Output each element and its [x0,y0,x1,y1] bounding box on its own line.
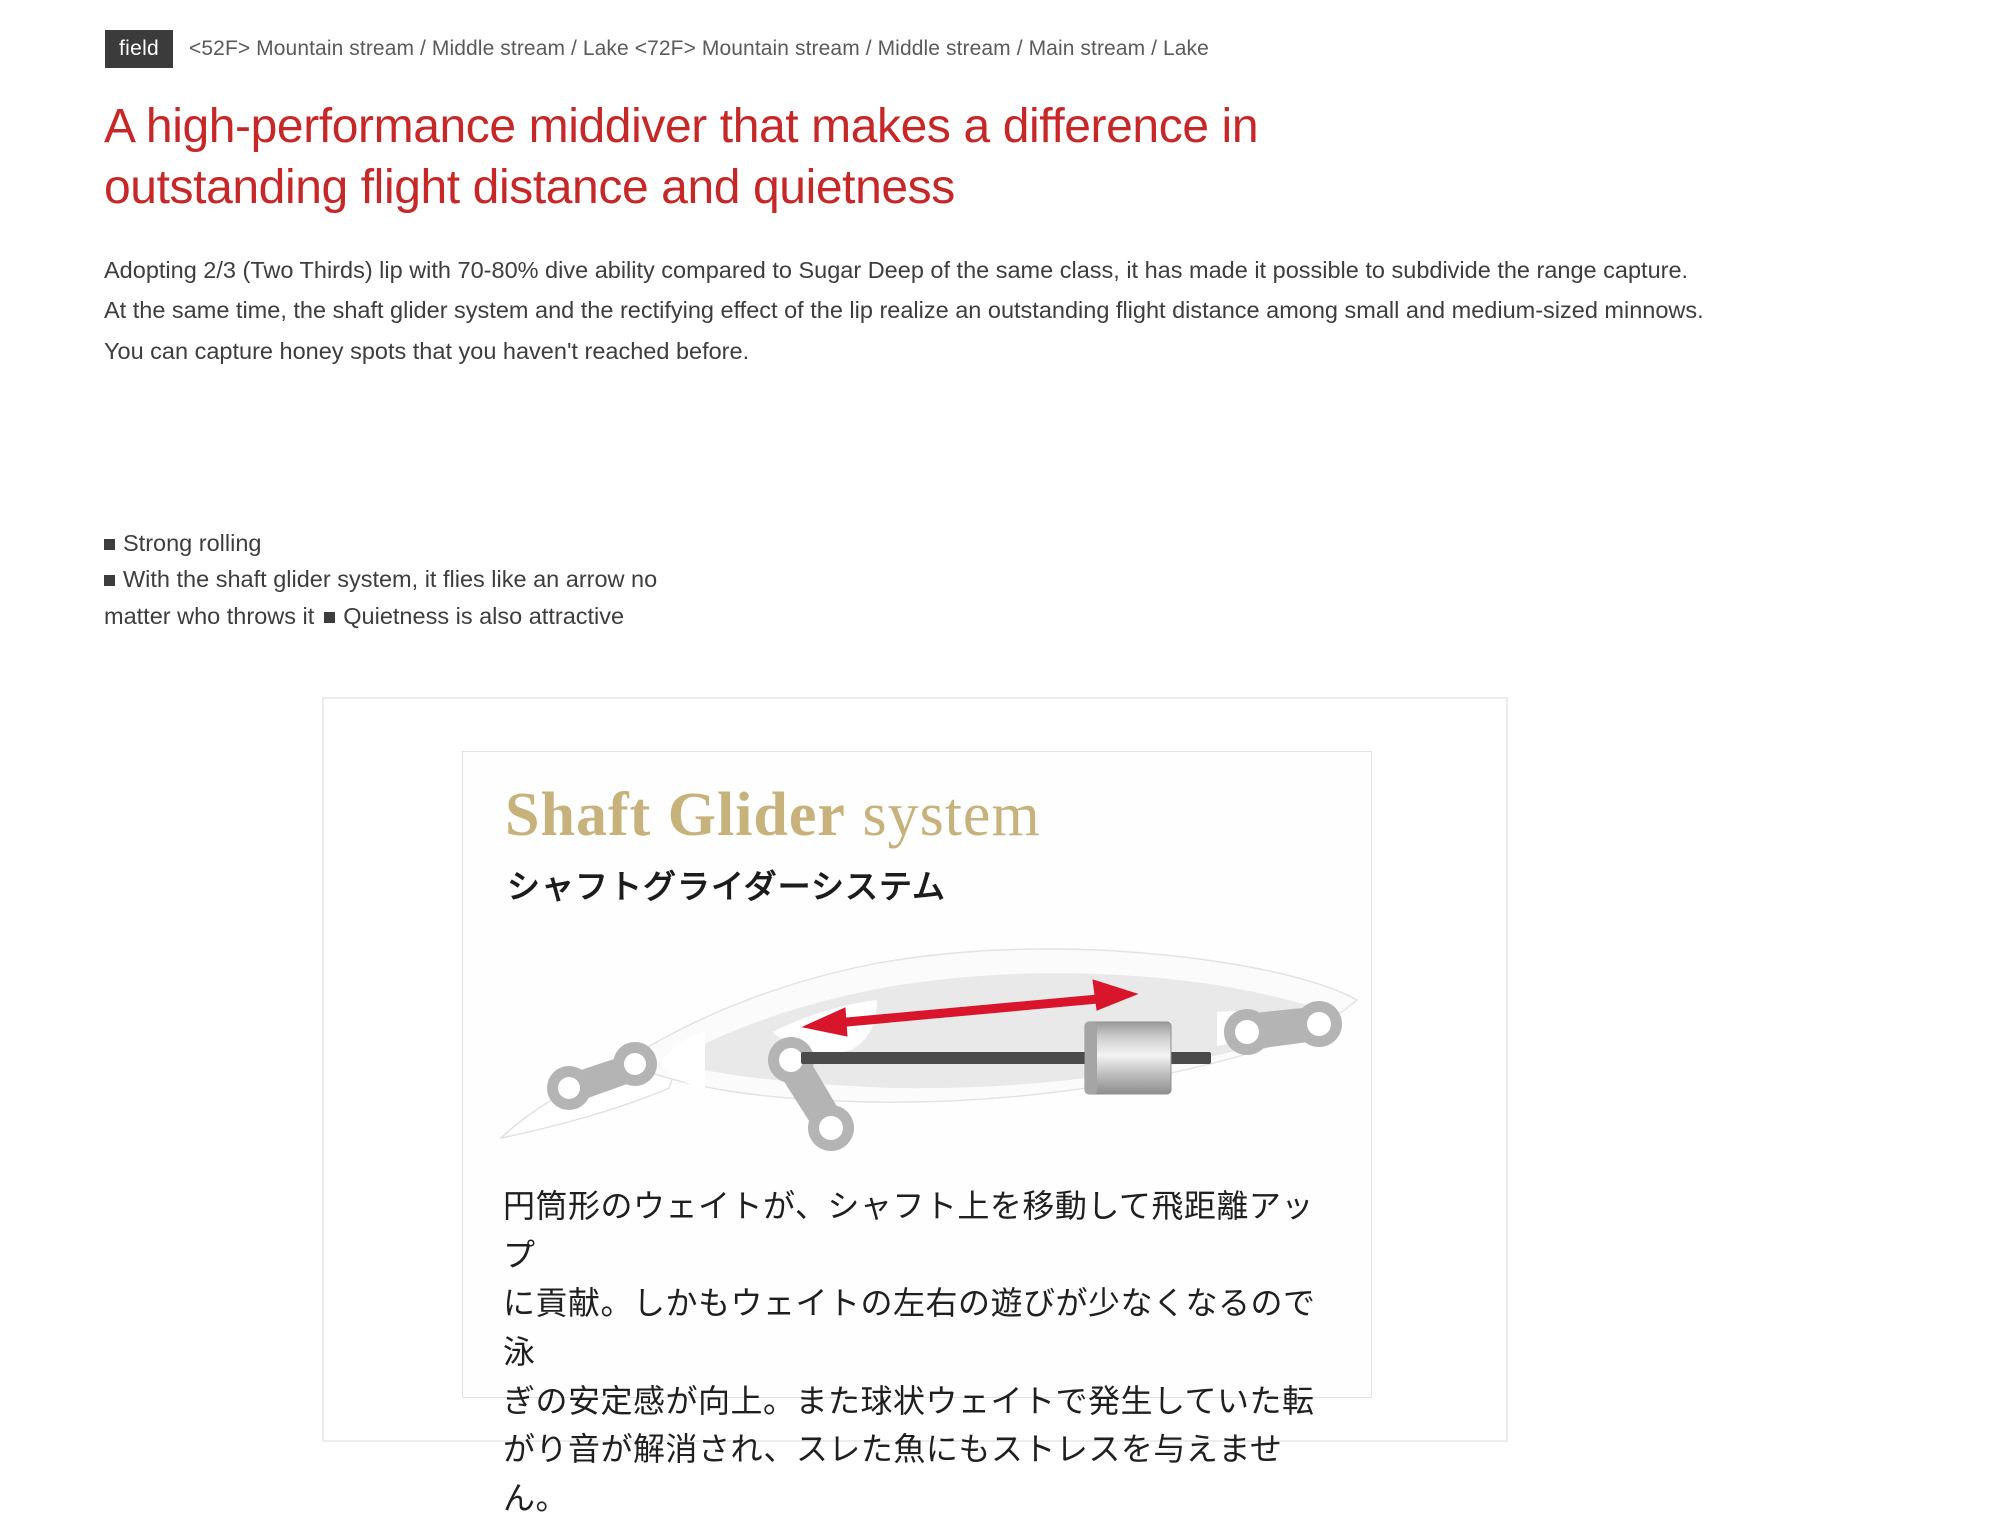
cylindrical-weight [1085,1022,1171,1094]
line-tie-ring-hole-front [558,1077,580,1099]
figure-inner-frame: Shaft Glider system シャフトグライダーシステム [462,751,1372,1398]
tail-hanger-hole-left [1235,1020,1259,1044]
figure-description-line: ぎの安定感が向上。また球状ウェイトで発生していた転 [503,1377,1343,1426]
square-bullet-icon [104,539,115,550]
cylindrical-weight-left-cap [1085,1022,1097,1094]
feature-bullet-list: Strong rolling With the shaft glider sys… [104,525,1504,634]
list-item-label: With the shaft glider system, it flies l… [123,566,657,592]
figure-description: 円筒形のウェイトが、シャフト上を移動して飛距離アップ に貢献。しかもウェイトの左… [503,1182,1343,1522]
body-copy: Adopting 2/3 (Two Thirds) lip with 70-80… [104,250,1744,371]
list-item-label-continued: matter who throws it [104,603,314,629]
field-badge: field [105,30,173,68]
breadcrumb-text: <52F> Mountain stream / Middle stream / … [189,37,1209,61]
list-item: matter who throws itQuietness is also at… [104,598,1504,634]
square-bullet-icon [324,612,335,623]
figure-subtitle: シャフトグライダーシステム [507,860,946,908]
list-item: With the shaft glider system, it flies l… [104,561,1504,597]
lure-diagram [473,912,1363,1162]
body-paragraph-2: At the same time, the shaft glider syste… [104,290,1744,330]
figure-description-line: に貢献。しかもウェイトの左右の遊びが少なくなるので泳 [503,1279,1343,1376]
breadcrumb: field <52F> Mountain stream / Middle str… [105,30,1209,68]
body-paragraph-3: You can capture honey spots that you hav… [104,331,1744,371]
tail-hanger-hole-right [1307,1012,1331,1036]
belly-hanger-hole-bottom [819,1116,843,1140]
line-tie-ring-hole-rear [624,1053,646,1075]
figure-title: Shaft Glider system [505,784,1041,846]
page-root: field <52F> Mountain stream / Middle str… [0,0,2000,1496]
body-paragraph-1: Adopting 2/3 (Two Thirds) lip with 70-80… [104,250,1744,290]
figure-title-bold: Shaft Glider [505,781,846,849]
figure-description-line: 円筒形のウェイトが、シャフト上を移動して飛距離アップ [503,1182,1343,1279]
figure-card: Shaft Glider system シャフトグライダーシステム [322,697,1508,1442]
list-item: Strong rolling [104,525,1504,561]
list-item-label: Quietness is also attractive [343,603,624,629]
list-item-label: Strong rolling [123,530,261,556]
square-bullet-icon [104,575,115,586]
belly-hanger-hole-top [779,1048,803,1072]
figure-description-line: がり音が解消され、スレた魚にもストレスを与えません。 [503,1425,1343,1522]
figure-title-light: system [862,781,1040,849]
page-title: A high-performance middiver that makes a… [104,96,1504,219]
